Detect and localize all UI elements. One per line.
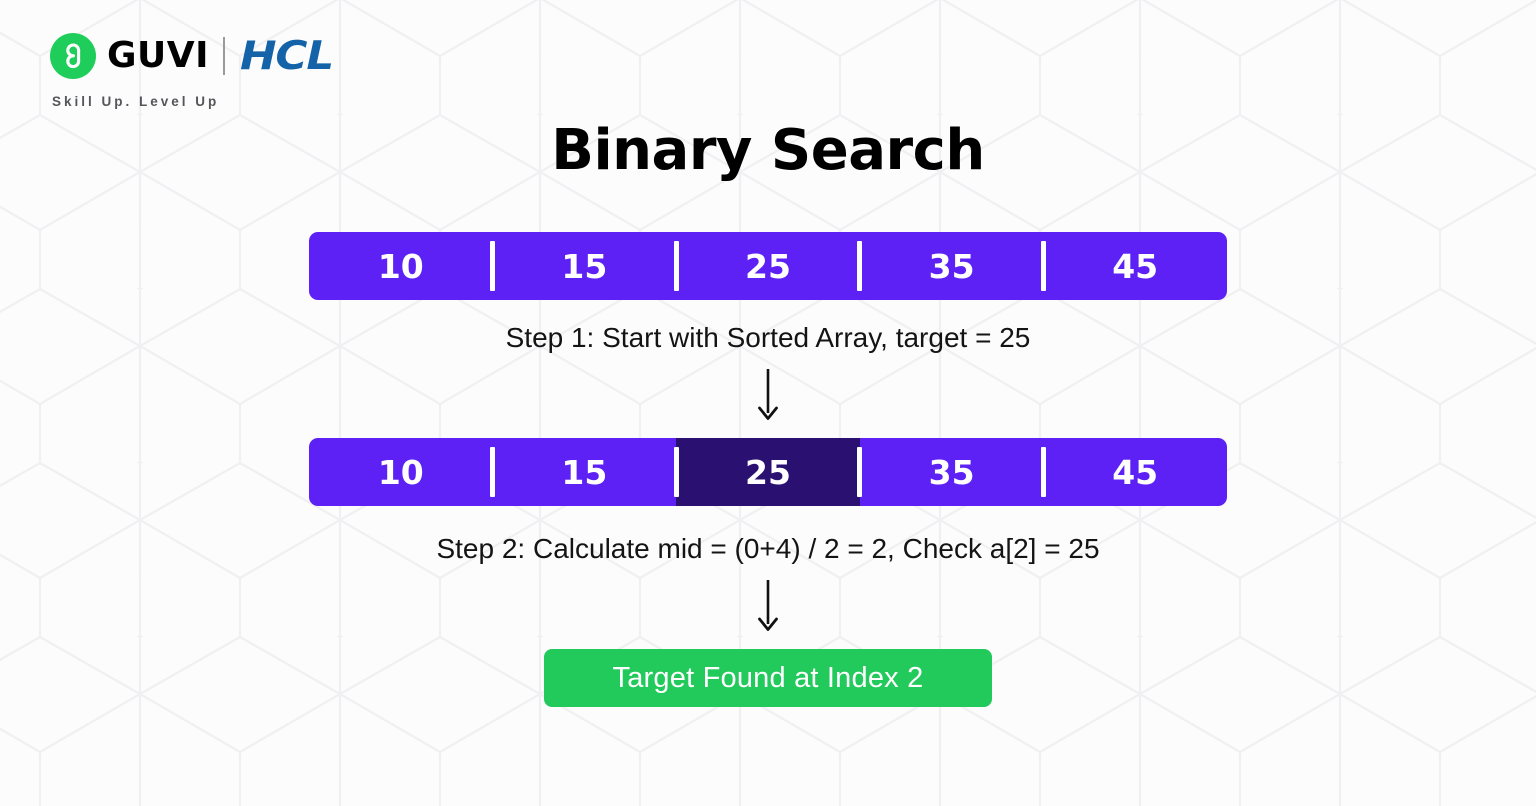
array-cell-highlighted: 25 <box>676 438 860 506</box>
array-row-step-2: 10 15 25 35 45 <box>309 438 1227 506</box>
array-cell: 35 <box>860 438 1044 506</box>
slide-canvas: GUVI HCL Skill Up. Level Up Binary Searc… <box>0 0 1536 806</box>
brand-divider <box>223 37 225 75</box>
array-cell: 35 <box>860 232 1044 300</box>
array-cell: 15 <box>493 232 677 300</box>
array-cell: 10 <box>309 232 493 300</box>
step-1-caption: Step 1: Start with Sorted Array, target … <box>0 322 1536 354</box>
brand-logos-row: GUVI HCL <box>50 30 323 82</box>
result-banner: Target Found at Index 2 <box>544 649 992 707</box>
array-cell: 45 <box>1043 438 1227 506</box>
guvi-wordmark: GUVI <box>107 38 209 74</box>
brand-tagline: Skill Up. Level Up <box>52 94 323 109</box>
array-cell: 15 <box>493 438 677 506</box>
step-2-caption: Step 2: Calculate mid = (0+4) / 2 = 2, C… <box>0 533 1536 565</box>
page-title: Binary Search <box>0 118 1536 183</box>
array-cell: 10 <box>309 438 493 506</box>
down-arrow-icon-1 <box>0 369 1536 421</box>
brand-header: GUVI HCL Skill Up. Level Up <box>50 30 323 109</box>
guvi-circle-g-icon <box>50 33 96 79</box>
array-row-step-1: 10 15 25 35 45 <box>309 232 1227 300</box>
array-cell: 25 <box>676 232 860 300</box>
hcl-wordmark: HCL <box>240 37 333 76</box>
down-arrow-icon-2 <box>0 580 1536 632</box>
array-cell: 45 <box>1043 232 1227 300</box>
